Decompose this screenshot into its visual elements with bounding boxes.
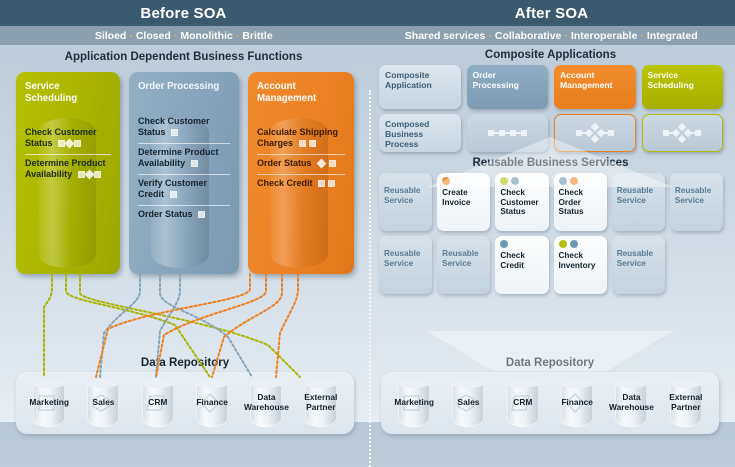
app-title: Service Scheduling (642, 65, 724, 109)
function-label: Order Status (138, 209, 193, 219)
icon-group (198, 210, 205, 221)
square-icon (318, 180, 325, 187)
panel-divider (369, 90, 371, 467)
database-marketing[interactable]: Marketing (26, 379, 72, 427)
function-item[interactable]: Calculate Shipping Charges (257, 124, 345, 154)
icon-group (318, 179, 335, 190)
trait-separator-dot: · (174, 30, 178, 42)
trait-label: Monolithic (180, 30, 233, 42)
before-soa-traits: Siloed · Closed · Monolithic · Brittle (0, 26, 368, 45)
square-icon (94, 171, 101, 178)
composite-application-label: Composite Application (379, 65, 461, 109)
dot-blue-icon (500, 240, 508, 248)
service-label: Create Invoice (442, 188, 485, 207)
service-label: Check Inventory (559, 251, 602, 270)
database-data-warehouse[interactable]: Data Warehouse (608, 379, 654, 427)
flow-node-icon (521, 130, 527, 136)
function-item[interactable]: Verify Customer Credit (138, 174, 230, 205)
reusable-business-services-grid: Reusable Service Create Invoice Check Cu… (379, 173, 723, 299)
database-data-warehouse[interactable]: Data Warehouse (243, 379, 289, 427)
column-service-scheduling[interactable]: Service Scheduling Check Customer Status… (16, 72, 120, 274)
trait-label: Interoperable (571, 30, 638, 42)
database-label: CRM (148, 398, 167, 408)
composite-to-services-fan (367, 137, 734, 187)
database-label: Sales (458, 398, 480, 408)
diamond-icon (84, 170, 94, 180)
diamond-icon (65, 139, 75, 149)
icon-group (78, 170, 101, 181)
icon-group (171, 128, 178, 139)
service-card-check-credit[interactable]: Check Credit (495, 236, 548, 294)
database-finance[interactable]: Finance (554, 379, 600, 427)
database-label: External Partner (298, 393, 344, 412)
dot-green-icon (559, 240, 567, 248)
database-marketing[interactable]: Marketing (391, 379, 437, 427)
diamond-icon (317, 159, 327, 169)
function-item[interactable]: Check Customer Status (25, 124, 111, 154)
trait-label: Siloed (95, 30, 127, 42)
service-label: Reusable Service (442, 240, 485, 268)
flow-diagram (488, 130, 527, 136)
database-label: Finance (561, 398, 593, 408)
service-label: Reusable Service (384, 240, 427, 268)
after-soa-traits: Shared services · Collaborative · Intero… (368, 26, 735, 45)
database-external-partner[interactable]: External Partner (298, 379, 344, 427)
column-title: Account Management (257, 81, 345, 104)
database-label: External Partner (663, 393, 709, 412)
function-list: Check Customer Status Determine Product … (25, 124, 111, 185)
left-data-repository: Data Repository Marketing Sales CRM Fina… (16, 357, 354, 434)
function-list: Calculate Shipping Charges Order Status … (257, 124, 345, 194)
service-card-placeholder[interactable]: Reusable Service (379, 236, 432, 294)
function-item[interactable]: Check Customer Status (138, 113, 230, 143)
flow-node-icon (695, 130, 701, 136)
service-label: Check Order Status (559, 188, 602, 217)
trait-label: Brittle (242, 30, 272, 42)
database-sales[interactable]: Sales (445, 379, 491, 427)
service-label: Check Customer Status (500, 188, 543, 217)
consumer-dots (500, 240, 543, 249)
app-title: Account Management (554, 65, 636, 109)
services-to-repository-fan (367, 331, 734, 371)
trait-label: Collaborative (495, 30, 562, 42)
after-soa-panel: Composite Applications Composite Applica… (367, 45, 734, 422)
function-label: Order Status (257, 158, 312, 168)
before-soa-title: Before SOA (0, 0, 368, 26)
database-crm[interactable]: CRM (500, 379, 546, 427)
service-grid-empty-slot (670, 236, 723, 294)
icon-group (170, 190, 177, 201)
database-label: CRM (513, 398, 532, 408)
repository-box: Marketing Sales CRM Finance Data Warehou… (16, 372, 354, 434)
repository-title: Data Repository (16, 357, 354, 369)
icon-group (191, 159, 198, 170)
flow-node-icon (608, 130, 614, 136)
square-icon (74, 140, 81, 147)
square-icon (191, 160, 198, 167)
database-label: Marketing (29, 398, 69, 408)
square-icon (329, 160, 336, 167)
consumer-dots (559, 240, 602, 249)
function-label: Calculate Shipping Charges (257, 127, 338, 148)
service-card-placeholder[interactable]: Reusable Service (612, 236, 665, 294)
column-order-processing[interactable]: Order Processing Check Customer Status D… (129, 72, 239, 274)
trait-separator-dot: · (129, 30, 133, 42)
trait-label: Integrated (647, 30, 698, 42)
square-icon (170, 191, 177, 198)
composite-applications-title: Composite Applications (367, 49, 734, 61)
trait-separator-dot: · (488, 30, 492, 42)
square-icon (299, 140, 306, 147)
icon-group (299, 139, 316, 150)
square-icon (171, 129, 178, 136)
function-list: Check Customer Status Determine Product … (138, 113, 230, 225)
column-title: Service Scheduling (25, 81, 111, 104)
database-label: Data Warehouse (608, 393, 654, 412)
database-finance[interactable]: Finance (189, 379, 235, 427)
trait-separator-dot: · (564, 30, 568, 42)
business-function-columns: Service Scheduling Check Customer Status… (16, 72, 354, 274)
trait-separator-dot: · (236, 30, 240, 42)
services-row: Reusable Service Reusable Service Check … (379, 236, 723, 294)
database-label: Finance (196, 398, 228, 408)
trait-label: Closed (136, 30, 171, 42)
square-icon (198, 211, 205, 218)
after-soa-title: After SOA (368, 0, 735, 26)
service-card-check-inventory[interactable]: Check Inventory (554, 236, 607, 294)
database-external-partner[interactable]: External Partner (663, 379, 709, 427)
app-title: Order Processing (467, 65, 549, 109)
subtitle-bar: Siloed · Closed · Monolithic · Brittle S… (0, 26, 735, 45)
function-item[interactable]: Determine Product Availability (138, 143, 230, 174)
square-icon (328, 180, 335, 187)
database-label: Data Warehouse (243, 393, 289, 412)
title-bar: Before SOA After SOA (0, 0, 735, 26)
column-title: Order Processing (138, 81, 230, 93)
function-item[interactable]: Order Status (138, 205, 230, 225)
icon-group (317, 159, 336, 170)
square-icon (309, 140, 316, 147)
application-dependent-section-title: Application Dependent Business Functions (0, 51, 367, 63)
database-label: Sales (93, 398, 115, 408)
function-item[interactable]: Order Status (257, 154, 345, 174)
service-card-placeholder[interactable]: Reusable Service (437, 236, 490, 294)
function-item[interactable]: Check Credit (257, 174, 345, 194)
database-label: Marketing (394, 398, 434, 408)
service-label: Reusable Service (617, 240, 660, 268)
column-account-management[interactable]: Account Management Calculate Shipping Ch… (248, 72, 354, 274)
function-item[interactable]: Determine Product Availability (25, 154, 111, 185)
before-soa-panel: Application Dependent Business Functions… (0, 45, 367, 422)
icon-group (58, 139, 81, 150)
trait-separator-dot: · (640, 30, 644, 42)
repository-box: Marketing Sales CRM Finance Data Warehou… (381, 372, 719, 434)
service-label: Check Credit (500, 251, 543, 270)
dot-blue-icon (570, 240, 578, 248)
function-label: Check Credit (257, 178, 313, 188)
trait-label: Shared services (405, 30, 486, 42)
database-sales[interactable]: Sales (80, 379, 126, 427)
function-label: Determine Product Availability (138, 147, 219, 168)
database-crm[interactable]: CRM (135, 379, 181, 427)
